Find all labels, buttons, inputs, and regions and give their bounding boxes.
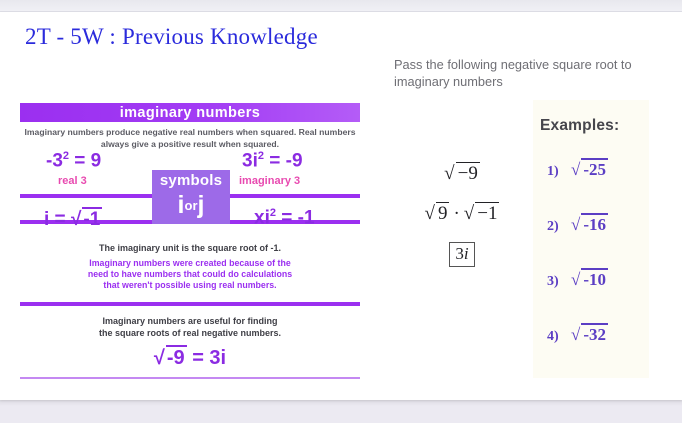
worked-solution: √−9 √9·√−1 3i <box>398 162 526 284</box>
example-index-4: 4) <box>547 329 571 345</box>
examples-panel: Examples: 1)√-25 2)√-16 3)√-10 4)√-32 <box>533 100 649 378</box>
instruction-text: Pass the following negative square root … <box>394 56 662 90</box>
example-item-2: 2)√-16 <box>547 213 651 235</box>
work-line-2: √9·√−1 <box>398 202 526 225</box>
viewer-background <box>0 406 682 423</box>
note-imaginary-unit: The imaginary unit is the square root of… <box>20 242 360 254</box>
radical-symbol-final: √-9 <box>154 345 187 370</box>
note-useful-for: Imaginary numbers are useful for finding… <box>20 315 360 339</box>
divider-rule-footer <box>20 377 360 379</box>
example-index-2: 2) <box>547 219 571 235</box>
symbols-box: symbols iorj <box>152 170 230 224</box>
radical-symbol-example-1: √-25 <box>571 158 608 180</box>
radical-symbol-example-4: √-32 <box>571 323 608 345</box>
equation-sqrt-neg9: √-9 = 3i <box>20 345 360 370</box>
symbol-j: j <box>198 191 205 219</box>
radical-symbol-example-2: √-16 <box>571 213 608 235</box>
answer-number: 3 <box>455 244 464 263</box>
infographic-header: imaginary numbers <box>20 103 360 122</box>
infographic-subtitle: Imaginary numbers produce negative real … <box>20 127 360 150</box>
symbol-i: i <box>178 191 185 219</box>
imaginary-numbers-infographic: imaginary numbers Imaginary numbers prod… <box>6 90 374 385</box>
symbol-or: or <box>185 198 198 213</box>
radical-symbol-step2-left: √9 <box>425 202 450 225</box>
note-why-created: Imaginary numbers were created because o… <box>20 258 360 291</box>
example-item-4: 4)√-32 <box>547 323 651 345</box>
radical-symbol-example-3: √-10 <box>571 268 608 290</box>
equation-real-square: -32 = 9 <box>46 150 101 172</box>
example-item-1: 1)√-25 <box>547 158 651 180</box>
symbols-box-glyphs: iorj <box>152 191 230 220</box>
previous-slide-edge <box>0 0 682 12</box>
label-real-3: real 3 <box>58 175 87 187</box>
example-index-1: 1) <box>547 164 571 180</box>
radical-symbol: √-1 <box>71 207 102 231</box>
slide-viewer: 2T - 5W : Previous Knowledge imaginary n… <box>0 0 682 423</box>
examples-title: Examples: <box>540 117 619 135</box>
equation-imaginary-square: 3i2 = -9 <box>242 150 303 172</box>
radical-symbol-step2-right: √−1 <box>464 202 500 225</box>
work-line-3: 3i <box>398 242 526 267</box>
slide-page: 2T - 5W : Previous Knowledge imaginary n… <box>0 12 682 400</box>
work-line-1: √−9 <box>398 162 526 185</box>
multiplication-operator: · <box>449 203 463 224</box>
equation-xi-squared: xi2 = -1 <box>254 207 315 229</box>
answer-box: 3i <box>449 242 474 267</box>
example-index-3: 3) <box>547 274 571 290</box>
radical-symbol-step1: √−9 <box>444 162 480 185</box>
symbols-box-label: symbols <box>152 170 230 191</box>
label-imaginary-3: imaginary 3 <box>239 175 300 187</box>
divider-rule-bottom <box>20 302 360 306</box>
answer-imaginary-unit: i <box>464 244 469 263</box>
page-title: 2T - 5W : Previous Knowledge <box>25 24 318 50</box>
equation-i-definition: i = √-1 <box>44 207 102 231</box>
example-item-3: 3)√-10 <box>547 268 651 290</box>
